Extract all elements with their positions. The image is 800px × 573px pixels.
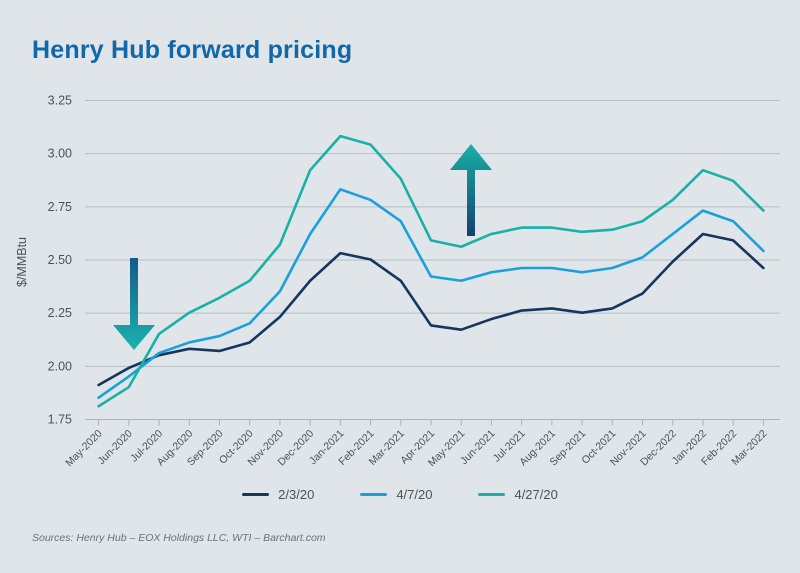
x-axis-tick-labels: May-2020Jun-2020Jul-2020Aug-2020Sep-2020… [63,428,769,470]
legend-label: 2/3/20 [278,487,314,502]
y-axis-title: $/MMBtu [15,237,29,287]
up-arrow-annotation [450,144,492,236]
legend-label: 4/7/20 [396,487,432,502]
legend-item-4-27-20[interactable]: 4/27/20 [478,487,557,502]
legend-swatch-icon [360,493,387,496]
y-axis-tick-label: 3.00 [48,147,72,161]
y-axis-tick-label: 1.75 [48,413,72,427]
y-axis-tick-labels: 1.752.002.252.502.753.003.25 [48,94,72,427]
down-arrow-shape [113,258,155,350]
source-note: Sources: Henry Hub – EOX Holdings LLC, W… [32,532,326,544]
legend-swatch-icon [478,493,505,496]
x-axis-tickmarks [99,420,764,426]
legend-label: 4/27/20 [514,487,557,502]
y-axis-tick-label: 2.50 [48,253,72,267]
up-arrow-shape [450,144,492,236]
legend-swatch-icon [242,493,269,496]
legend-item-2-3-20[interactable]: 2/3/20 [242,487,314,502]
y-axis-tick-label: 2.25 [48,306,72,320]
y-axis-tick-label: 3.25 [48,94,72,108]
data-series-group [99,136,764,406]
y-axis-tick-label: 2.75 [48,200,72,214]
chart-legend: 2/3/204/7/204/27/20 [0,487,800,502]
y-axis-tick-label: 2.00 [48,359,72,373]
legend-item-4-7-20[interactable]: 4/7/20 [360,487,432,502]
down-arrow-annotation [113,258,155,350]
chart-card: Henry Hub forward pricing 1.752.002.252.… [0,0,800,573]
